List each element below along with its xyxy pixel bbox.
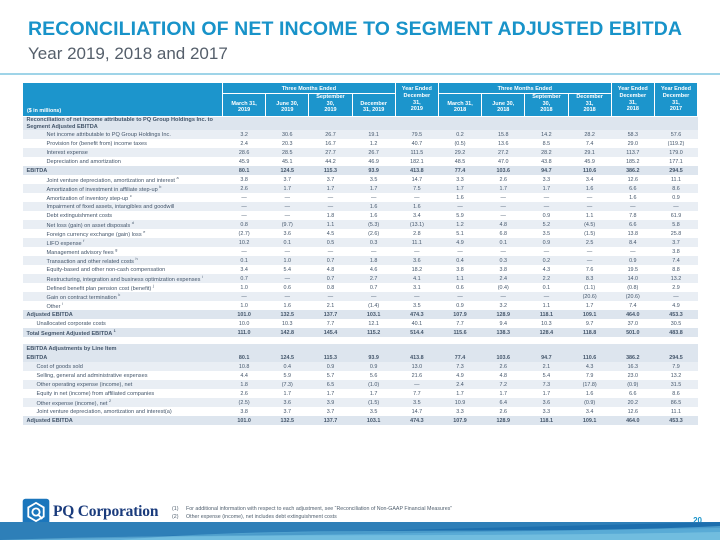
table-cell: — [309, 193, 352, 202]
table-cell: 5.8 [654, 220, 697, 229]
table-cell: 0.9 [309, 362, 352, 371]
table-cell: — [352, 247, 395, 256]
table-cell: — [223, 211, 266, 220]
table-cell: 3.3 [438, 175, 481, 184]
table-cell: 12.6 [611, 407, 654, 416]
table-cell [611, 337, 654, 344]
table-cell: 1.6 [568, 184, 611, 193]
table-cell: — [568, 256, 611, 265]
table-cell [611, 117, 654, 131]
table-cell: 0.2 [438, 130, 481, 139]
table-spacer-row [23, 337, 698, 344]
table-row: Joint venture depreciation, amortization… [23, 407, 698, 416]
table-cell: — [525, 247, 568, 256]
table-row-label: Management advisory fees g [23, 247, 223, 256]
table-cell: (1.5) [352, 398, 395, 407]
table-cell [525, 117, 568, 131]
table-cell: 6.6 [611, 220, 654, 229]
table-cell: 3.7 [654, 238, 697, 247]
table-cell: 4.8 [309, 265, 352, 274]
table-cell [568, 344, 611, 353]
table-cell: 19.1 [352, 130, 395, 139]
table-cell: 464.0 [611, 310, 654, 319]
table-cell: 3.8 [482, 265, 525, 274]
table-row: Other expense (income), net 2(2.5)3.63.9… [23, 398, 698, 407]
table-cell: 27.2 [482, 148, 525, 157]
table-cell: 13.8 [611, 229, 654, 238]
table-cell: 453.3 [654, 310, 697, 319]
table-cell: 1.0 [223, 283, 266, 292]
table-group-header: Year EndedDecember31,2017 [654, 83, 697, 117]
table-cell: 16.7 [309, 139, 352, 148]
table-cell: 46.9 [352, 157, 395, 166]
reconciliation-table-wrapper: ($ in millions)Three Months EndedYear En… [22, 82, 698, 425]
table-cell: 20.3 [266, 139, 309, 148]
table-cell: 2.6 [223, 389, 266, 398]
table-cell: 1.1 [525, 301, 568, 310]
table-cell: 7.9 [654, 362, 697, 371]
table-cell: (5.3) [352, 220, 395, 229]
table-row-label: Adjusted EBITDA [23, 416, 223, 425]
table-cell: 28.6 [223, 148, 266, 157]
table-cell [525, 344, 568, 353]
table-cell: 0.8 [223, 220, 266, 229]
table-cell: (17.8) [568, 380, 611, 389]
table-cell: 109.1 [568, 310, 611, 319]
table-cell: (0.9) [568, 398, 611, 407]
table-cell [525, 337, 568, 344]
table-cell: 1.1 [438, 274, 481, 283]
table-row: Debt extinguishment costs——1.81.63.45.9—… [23, 211, 698, 220]
table-cell: 11.1 [654, 175, 697, 184]
table-cell: (2.5) [223, 398, 266, 407]
table-cell: 111.5 [395, 148, 438, 157]
table-cell: 1.7 [309, 389, 352, 398]
table-row: Amortization of inventory step-up c—————… [23, 193, 698, 202]
table-cell: — [438, 202, 481, 211]
table-row-label: Reconciliation of net income attributabl… [23, 117, 223, 131]
page-subtitle: Year 2019, 2018 and 2017 [28, 44, 228, 64]
table-cell: — [568, 247, 611, 256]
table-cell: 11.1 [654, 407, 697, 416]
table-cell: 6.4 [482, 398, 525, 407]
table-cell: 21.6 [395, 371, 438, 380]
table-cell: 4.1 [395, 274, 438, 283]
table-row: EBITDA80.1124.5115.393.9413.877.4103.694… [23, 166, 698, 175]
table-cell: 294.5 [654, 353, 697, 362]
table-cell: 115.3 [309, 166, 352, 175]
table-cell: 1.8 [309, 211, 352, 220]
table-cell: 1.6 [352, 202, 395, 211]
table-cell: 6.8 [482, 229, 525, 238]
table-cell: 2.2 [525, 274, 568, 283]
table-cell: 3.5 [525, 229, 568, 238]
table-group-header: Three Months Ended [438, 83, 611, 94]
table-cell: (9.7) [266, 220, 309, 229]
table-cell: 5.6 [352, 371, 395, 380]
table-cell: 0.7 [309, 256, 352, 265]
table-cell [223, 337, 266, 344]
table-cell: 10.9 [438, 398, 481, 407]
table-cell: 110.6 [568, 353, 611, 362]
table-cell: 413.8 [395, 353, 438, 362]
table-cell: — [223, 193, 266, 202]
table-cell [223, 117, 266, 131]
table-cell: — [568, 202, 611, 211]
table-cell: 1.8 [352, 256, 395, 265]
table-cell: 23.0 [611, 371, 654, 380]
table-cell: 7.4 [654, 256, 697, 265]
table-cell: 0.1 [525, 283, 568, 292]
table-cell: 26.7 [352, 148, 395, 157]
table-cell: 1.0 [266, 256, 309, 265]
table-cell: 0.4 [438, 256, 481, 265]
table-row: Gain on contract termination k————————(2… [23, 292, 698, 301]
table-cell: 3.6 [395, 256, 438, 265]
table-cell: (0.8) [611, 283, 654, 292]
table-cell: 386.2 [611, 353, 654, 362]
table-cell: 3.7 [309, 407, 352, 416]
table-row-label: EBITDA [23, 166, 223, 175]
table-cell: — [482, 211, 525, 220]
table-cell: 4.9 [438, 371, 481, 380]
table-row: Equity-based and other non-cash compensa… [23, 265, 698, 274]
table-cell: — [266, 247, 309, 256]
table-cell: 7.3 [525, 380, 568, 389]
table-cell: (13.1) [395, 220, 438, 229]
table-cell: 29.1 [568, 148, 611, 157]
table-cell: 1.7 [266, 184, 309, 193]
table-cell: 3.7 [266, 407, 309, 416]
table-cell: 142.8 [266, 328, 309, 337]
table-cell: 294.5 [654, 166, 697, 175]
table-cell [568, 337, 611, 344]
table-cell: (119.2) [654, 139, 697, 148]
table-row-label: Net income attributable to PQ Group Hold… [23, 130, 223, 139]
table-cell: 1.2 [352, 139, 395, 148]
table-cell: 132.5 [266, 310, 309, 319]
table-cell: 0.5 [309, 238, 352, 247]
table-cell: 0.6 [438, 283, 481, 292]
table-cell: 3.7 [266, 175, 309, 184]
table-cell: 413.8 [395, 166, 438, 175]
table-cell: 3.2 [482, 301, 525, 310]
table-row-label: Total Segment Adjusted EBITDA 1 [23, 328, 223, 337]
table-cell: — [266, 202, 309, 211]
table-group-header: Three Months Ended [223, 83, 396, 94]
table-row: Net income attributable to PQ Group Hold… [23, 130, 698, 139]
table-cell: 5.1 [438, 229, 481, 238]
table-cell: 0.9 [525, 211, 568, 220]
table-cell: 29.0 [611, 139, 654, 148]
table-row: Foreign currency exchange (gain) loss e(… [23, 229, 698, 238]
table-cell: — [395, 380, 438, 389]
table-row-label: Joint venture depreciation, amortization… [23, 175, 223, 184]
table-column-header: March 31,2019 [223, 93, 266, 116]
table-cell: — [223, 292, 266, 301]
table-cell: 11.1 [395, 238, 438, 247]
table-cell: (20.6) [568, 292, 611, 301]
table-cell: 9.4 [482, 319, 525, 328]
table-cell: 5.9 [438, 211, 481, 220]
table-cell: 2.4 [482, 274, 525, 283]
table-group-header: Year EndedDecember31,2018 [611, 83, 654, 117]
table-cell: 4.5 [309, 229, 352, 238]
table-cell: 137.7 [309, 310, 352, 319]
table-row-label: EBITDA Adjustments by Line Item [23, 344, 223, 353]
table-cell: 28.2 [568, 130, 611, 139]
table-cell: 45.9 [223, 157, 266, 166]
table-cell: 1.8 [223, 380, 266, 389]
table-row-label: LIFO expense f [23, 238, 223, 247]
table-cell: 3.4 [568, 407, 611, 416]
table-cell: 1.7 [352, 184, 395, 193]
table-cell: (2.6) [352, 229, 395, 238]
table-cell: 15.8 [482, 130, 525, 139]
table-cell: — [611, 202, 654, 211]
table-row: Depreciation and amortization45.945.144.… [23, 157, 698, 166]
table-cell: 1.1 [568, 211, 611, 220]
table-cell [266, 117, 309, 131]
table-cell: 7.7 [395, 389, 438, 398]
table-cell: 103.1 [352, 310, 395, 319]
table-cell: 1.7 [438, 389, 481, 398]
table-row: Impairment of fixed assets, intangibles … [23, 202, 698, 211]
table-cell: 19.5 [611, 265, 654, 274]
table-row-label: Equity-based and other non-cash compensa… [23, 265, 223, 274]
table-cell: 2.4 [223, 139, 266, 148]
table-cell: 30.5 [654, 319, 697, 328]
table-row-label: Adjusted EBITDA [23, 310, 223, 319]
table-cell: — [309, 292, 352, 301]
table-row: Transaction and other related costs h0.1… [23, 256, 698, 265]
table-cell: 6.5 [309, 380, 352, 389]
table-unit-label: ($ in millions) [23, 83, 223, 117]
table-cell: — [352, 193, 395, 202]
table-cell: — [568, 193, 611, 202]
table-cell [611, 344, 654, 353]
table-cell: 514.4 [395, 328, 438, 337]
table-cell: 6.6 [611, 389, 654, 398]
table-row-label: Transaction and other related costs h [23, 256, 223, 265]
table-cell: 7.9 [568, 371, 611, 380]
table-row: Cost of goods sold10.80.40.90.913.07.32.… [23, 362, 698, 371]
table-cell: (1.5) [568, 229, 611, 238]
table-cell: 13.6 [482, 139, 525, 148]
table-cell: 2.4 [438, 380, 481, 389]
table-cell: 5.2 [525, 220, 568, 229]
table-cell: — [352, 292, 395, 301]
table-cell: 12.1 [352, 319, 395, 328]
table-cell: 118.1 [525, 310, 568, 319]
table-cell: 3.7 [309, 175, 352, 184]
table-cell: 13.2 [654, 371, 697, 380]
table-row: Selling, general and administrative expe… [23, 371, 698, 380]
table-cell: 103.6 [482, 166, 525, 175]
table-cell: 4.8 [482, 220, 525, 229]
table-row: Provision for (benefit from) income taxe… [23, 139, 698, 148]
table-cell [482, 337, 525, 344]
table-cell [654, 337, 697, 344]
table-cell: — [223, 202, 266, 211]
table-cell: 3.6 [266, 398, 309, 407]
table-cell: (2.7) [223, 229, 266, 238]
table-cell: 128.9 [482, 416, 525, 425]
table-cell [309, 344, 352, 353]
table-row: Interest expense28.628.527.726.7111.529.… [23, 148, 698, 157]
table-cell: (1.0) [352, 380, 395, 389]
table-cell: 9.7 [568, 319, 611, 328]
table-cell: 0.7 [352, 283, 395, 292]
table-cell: 2.6 [223, 184, 266, 193]
table-cell: (4.5) [568, 220, 611, 229]
table-cell: (7.3) [266, 380, 309, 389]
table-header: ($ in millions)Three Months EndedYear En… [23, 83, 698, 117]
table-cell: 10.8 [223, 362, 266, 371]
table-cell: 2.1 [309, 301, 352, 310]
table-row-label: Foreign currency exchange (gain) loss e [23, 229, 223, 238]
table-cell [352, 117, 395, 131]
table-cell: 0.1 [223, 256, 266, 265]
table-cell: 45.9 [568, 157, 611, 166]
table-cell: 93.9 [352, 166, 395, 175]
table-row-label: EBITDA [23, 353, 223, 362]
table-cell [395, 344, 438, 353]
table-cell: 26.7 [309, 130, 352, 139]
table-cell: 0.7 [309, 274, 352, 283]
title-divider [0, 73, 720, 75]
table-cell: 1.7 [352, 389, 395, 398]
table-cell: 0.9 [525, 238, 568, 247]
reconciliation-table: ($ in millions)Three Months EndedYear En… [22, 82, 698, 425]
table-cell: 0.9 [611, 256, 654, 265]
table-cell: 3.6 [266, 229, 309, 238]
table-cell: — [611, 247, 654, 256]
table-cell: 10.0 [223, 319, 266, 328]
table-cell: 94.7 [525, 353, 568, 362]
table-cell: 14.7 [395, 407, 438, 416]
table-cell: 77.4 [438, 353, 481, 362]
table-cell: 107.9 [438, 416, 481, 425]
table-cell: 4.9 [438, 238, 481, 247]
table-cell [352, 337, 395, 344]
table-column-header: September30,2018 [525, 93, 568, 116]
table-cell: 4.9 [654, 301, 697, 310]
table-cell: — [654, 202, 697, 211]
table-cell: 7.3 [438, 362, 481, 371]
table-cell: 3.2 [223, 130, 266, 139]
table-cell: 3.9 [309, 398, 352, 407]
table-cell: 28.2 [525, 148, 568, 157]
table-row-label: Other operating expense (income), net [23, 380, 223, 389]
table-cell: 103.1 [352, 416, 395, 425]
table-cell: 43.8 [525, 157, 568, 166]
table-row: Joint venture depreciation, amortization… [23, 175, 698, 184]
table-row-label: Amortization of inventory step-up c [23, 193, 223, 202]
table-cell: 115.2 [352, 328, 395, 337]
table-cell: 111.0 [223, 328, 266, 337]
table-cell: 138.3 [482, 328, 525, 337]
table-row-label: Unallocated corporate costs [23, 319, 223, 328]
table-cell: 0.3 [482, 256, 525, 265]
table-cell: 3.3 [525, 175, 568, 184]
table-cell: 1.1 [309, 220, 352, 229]
table-cell: 1.7 [568, 301, 611, 310]
table-cell: 1.7 [438, 184, 481, 193]
table-cell: 40.1 [395, 319, 438, 328]
table-row-label: Provision for (benefit from) income taxe… [23, 139, 223, 148]
table-cell: 7.7 [309, 319, 352, 328]
table-group-header: Year EndedDecember31,2019 [395, 83, 438, 117]
table-row-label: Equity in net (income) from affiliated c… [23, 389, 223, 398]
table-cell: 1.7 [525, 184, 568, 193]
table-cell: 128.4 [525, 328, 568, 337]
table-cell: 2.9 [654, 283, 697, 292]
table-cell: 101.0 [223, 310, 266, 319]
table-cell: 179.0 [654, 148, 697, 157]
table-cell: — [223, 247, 266, 256]
table-cell: 30.6 [266, 130, 309, 139]
table-cell: 107.9 [438, 310, 481, 319]
table-cell: 3.4 [395, 211, 438, 220]
table-cell: 3.8 [223, 175, 266, 184]
table-cell: 4.3 [568, 362, 611, 371]
table-cell: (0.4) [482, 283, 525, 292]
table-cell: — [482, 292, 525, 301]
table-cell: 1.7 [482, 184, 525, 193]
table-column-header: March 31,2018 [438, 93, 481, 116]
table-row: Adjusted EBITDA101.0132.5137.7103.1474.3… [23, 310, 698, 319]
table-cell: 1.6 [568, 389, 611, 398]
table-cell: 1.6 [395, 202, 438, 211]
table-cell: — [309, 247, 352, 256]
table-cell: 44.2 [309, 157, 352, 166]
table-cell: 4.4 [223, 371, 266, 380]
table-cell: 4.3 [525, 265, 568, 274]
table-cell [352, 344, 395, 353]
table-cell: 14.7 [395, 175, 438, 184]
table-cell: 2.6 [482, 362, 525, 371]
table-cell: (1.4) [352, 301, 395, 310]
table-cell: — [395, 193, 438, 202]
table-cell: 2.1 [525, 362, 568, 371]
table-cell: 25.8 [654, 229, 697, 238]
table-cell: 12.6 [611, 175, 654, 184]
table-cell: 1.6 [611, 193, 654, 202]
table-cell: 3.5 [352, 175, 395, 184]
table-cell: — [654, 292, 697, 301]
table-cell: (20.6) [611, 292, 654, 301]
table-cell [309, 117, 352, 131]
table-cell: 115.3 [309, 353, 352, 362]
table-row: Equity in net (income) from affiliated c… [23, 389, 698, 398]
table-cell: 453.3 [654, 416, 697, 425]
table-cell: 137.7 [309, 416, 352, 425]
footnote-1-marker: (1) [172, 505, 186, 513]
table-row-label [23, 337, 223, 344]
table-cell [654, 344, 697, 353]
table-cell: 0.8 [309, 283, 352, 292]
table-cell: 14.2 [525, 130, 568, 139]
table-cell: 8.6 [654, 389, 697, 398]
table-cell: 61.9 [654, 211, 697, 220]
table-cell: 0.3 [352, 238, 395, 247]
table-row-label: Other expense (income), net 2 [23, 398, 223, 407]
table-row-label: Amortization of investment in affiliate … [23, 184, 223, 193]
table-cell: 0.9 [438, 301, 481, 310]
table-cell: 0.1 [482, 238, 525, 247]
table-cell [266, 344, 309, 353]
